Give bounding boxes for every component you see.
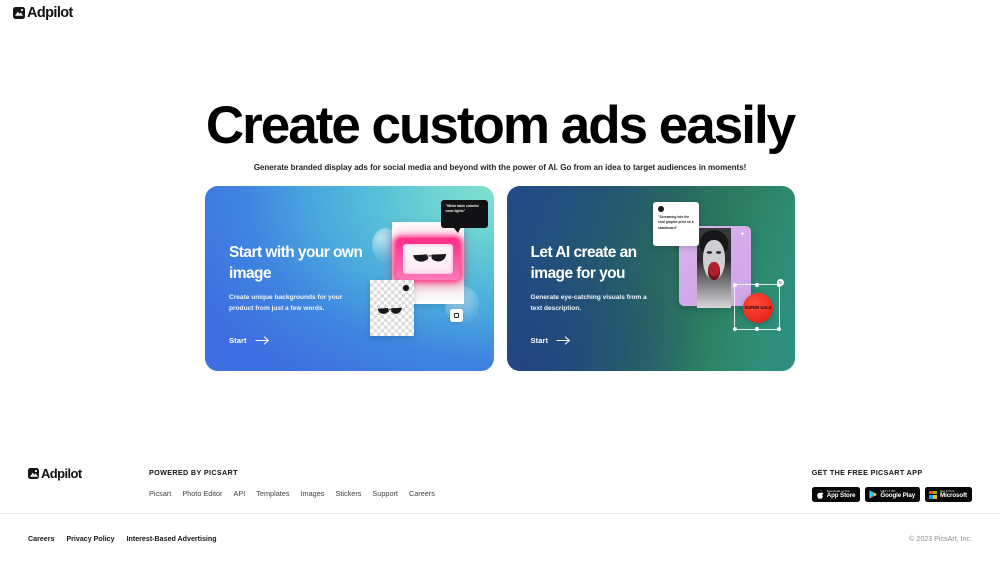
adpilot-logo-icon — [28, 468, 39, 479]
card-a-artwork: "White table colorful neon lights" — [370, 200, 480, 340]
adpilot-logo-icon — [13, 7, 25, 19]
transparent-canvas — [370, 280, 414, 336]
arrow-right-icon — [556, 336, 571, 345]
legal-link-interest-based-advertising[interactable]: Interest-Based Advertising — [127, 535, 217, 543]
footer-link-picsart[interactable]: Picsart — [149, 489, 171, 498]
google-play-badge-main: Google Play — [880, 493, 915, 499]
prompt-card: "Screaming into the void graphic print o… — [653, 202, 699, 246]
sale-sticker-label: SUPER SALE — [744, 306, 771, 311]
app-store-badge-main: App Store — [827, 493, 856, 499]
card-let-ai-create-image[interactable]: ✦ "Screaming into the void graphic print… — [507, 186, 796, 371]
legal-link-privacy-policy[interactable]: Privacy Policy — [66, 535, 114, 543]
microsoft-badge-main: Microsoft — [940, 493, 967, 499]
header-brand-name: Adpilot — [27, 6, 73, 21]
store-badge-list: Download on the App Store GET IT ON — [812, 487, 972, 502]
footer-link-careers[interactable]: Careers — [409, 489, 435, 498]
card-b-title: Let AI create an image for you — [531, 243, 681, 284]
card-a-description: Create unique backgrounds for your produ… — [229, 293, 349, 314]
sparkle-icon: ✦ — [740, 232, 745, 238]
hero-section: Create custom ads easily Generate brande… — [0, 98, 1000, 172]
card-a-start-button[interactable]: Start — [229, 336, 270, 345]
resize-handle[interactable] — [733, 327, 737, 331]
footer-app-heading: GET THE FREE PICSART APP — [812, 468, 972, 477]
arrow-right-icon — [255, 336, 270, 345]
site-header: Adpilot — [0, 0, 1000, 26]
footer-link-support[interactable]: Support — [372, 489, 398, 498]
prompt-text: "White table colorful neon lights" — [446, 204, 484, 215]
footer-app-column: GET THE FREE PICSART APP Download on the… — [812, 468, 972, 502]
site-footer: Adpilot POWERED BY PICSART Picsart Photo… — [0, 455, 1000, 513]
footer-brand[interactable]: Adpilot — [28, 467, 82, 480]
footer-link-list: Picsart Photo Editor API Templates Image… — [149, 489, 435, 498]
page-title: Create custom ads easily — [0, 98, 1000, 154]
eyes-icon — [706, 251, 722, 254]
hero-subtitle: Generate branded display ads for social … — [0, 163, 1000, 172]
microsoft-icon — [929, 491, 937, 499]
footer-link-templates[interactable]: Templates — [256, 489, 289, 498]
prompt-text: "Screaming into the void graphic print o… — [658, 215, 695, 231]
footer-powered-column: POWERED BY PICSART Picsart Photo Editor … — [149, 468, 435, 498]
footer-brand-name: Adpilot — [41, 467, 82, 480]
card-a-start-label: Start — [229, 336, 247, 345]
footer-link-images[interactable]: Images — [301, 489, 325, 498]
generated-image — [697, 228, 731, 308]
resize-handle[interactable] — [777, 327, 781, 331]
avatar — [658, 206, 664, 212]
header-brand[interactable]: Adpilot — [13, 6, 73, 21]
neon-frame — [396, 238, 460, 280]
mouth-shape — [708, 262, 720, 280]
footer-powered-heading: POWERED BY PICSART — [149, 468, 435, 477]
rotate-handle-icon[interactable]: ↻ — [777, 279, 784, 286]
crop-tool-icon — [450, 309, 463, 322]
resize-handle[interactable] — [755, 283, 759, 287]
card-b-start-label: Start — [531, 336, 549, 345]
selection-box[interactable]: ↻ SUPER SALE — [734, 284, 780, 330]
record-dot-icon — [403, 285, 409, 291]
legal-bar: Careers Privacy Policy Interest-Based Ad… — [0, 513, 1000, 563]
page-root: Adpilot Create custom ads easily Generat… — [0, 0, 1000, 563]
copyright-text: © 2023 PicsArt, Inc. — [909, 535, 972, 543]
card-a-title: Start with your own image — [229, 243, 379, 284]
microsoft-badge[interactable]: Get it from Microsoft — [925, 487, 972, 502]
google-play-badge[interactable]: GET IT ON Google Play — [865, 487, 920, 502]
card-b-start-button[interactable]: Start — [531, 336, 572, 345]
option-cards: "White table colorful neon lights" Start… — [205, 186, 795, 371]
google-play-icon — [869, 490, 877, 499]
sunglasses-icon — [412, 253, 448, 263]
sale-sticker: SUPER SALE — [743, 293, 773, 323]
legal-link-list: Careers Privacy Policy Interest-Based Ad… — [28, 535, 217, 543]
app-store-badge[interactable]: Download on the App Store — [812, 487, 861, 502]
prompt-speech-bubble: "White table colorful neon lights" — [441, 200, 488, 228]
footer-link-stickers[interactable]: Stickers — [335, 489, 361, 498]
apple-icon — [816, 490, 824, 499]
legal-link-careers[interactable]: Careers — [28, 535, 54, 543]
resize-handle[interactable] — [733, 283, 737, 287]
card-start-with-own-image[interactable]: "White table colorful neon lights" Start… — [205, 186, 494, 371]
footer-link-photo-editor[interactable]: Photo Editor — [182, 489, 222, 498]
footer-link-api[interactable]: API — [233, 489, 245, 498]
card-b-description: Generate eye-catching visuals from a tex… — [531, 293, 651, 314]
sunglasses-cutout-icon — [377, 307, 403, 315]
resize-handle[interactable] — [755, 327, 759, 331]
